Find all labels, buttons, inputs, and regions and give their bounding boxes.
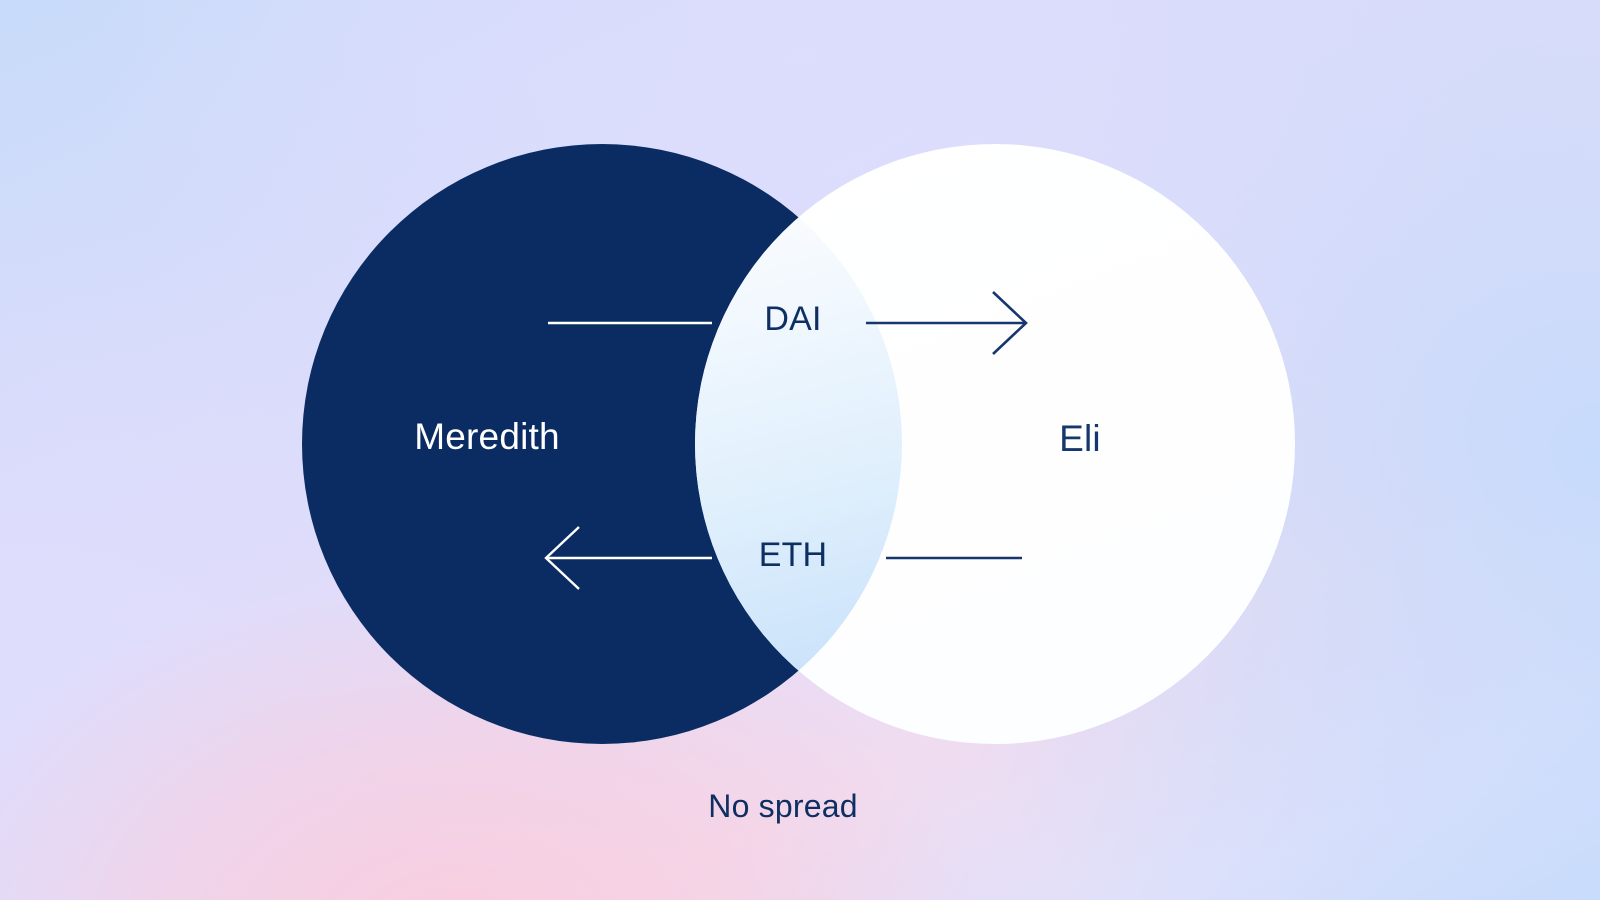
no-spread-caption: No spread — [0, 788, 1566, 825]
meredith-label: Meredith — [302, 416, 672, 458]
diagram-canvas: Meredith Eli DAI ETH No spread — [0, 0, 1600, 900]
venn-diagram — [0, 0, 1600, 900]
eli-label: Eli — [925, 418, 1235, 460]
eth-token-label: ETH — [700, 536, 886, 575]
dai-token-label: DAI — [700, 300, 886, 339]
